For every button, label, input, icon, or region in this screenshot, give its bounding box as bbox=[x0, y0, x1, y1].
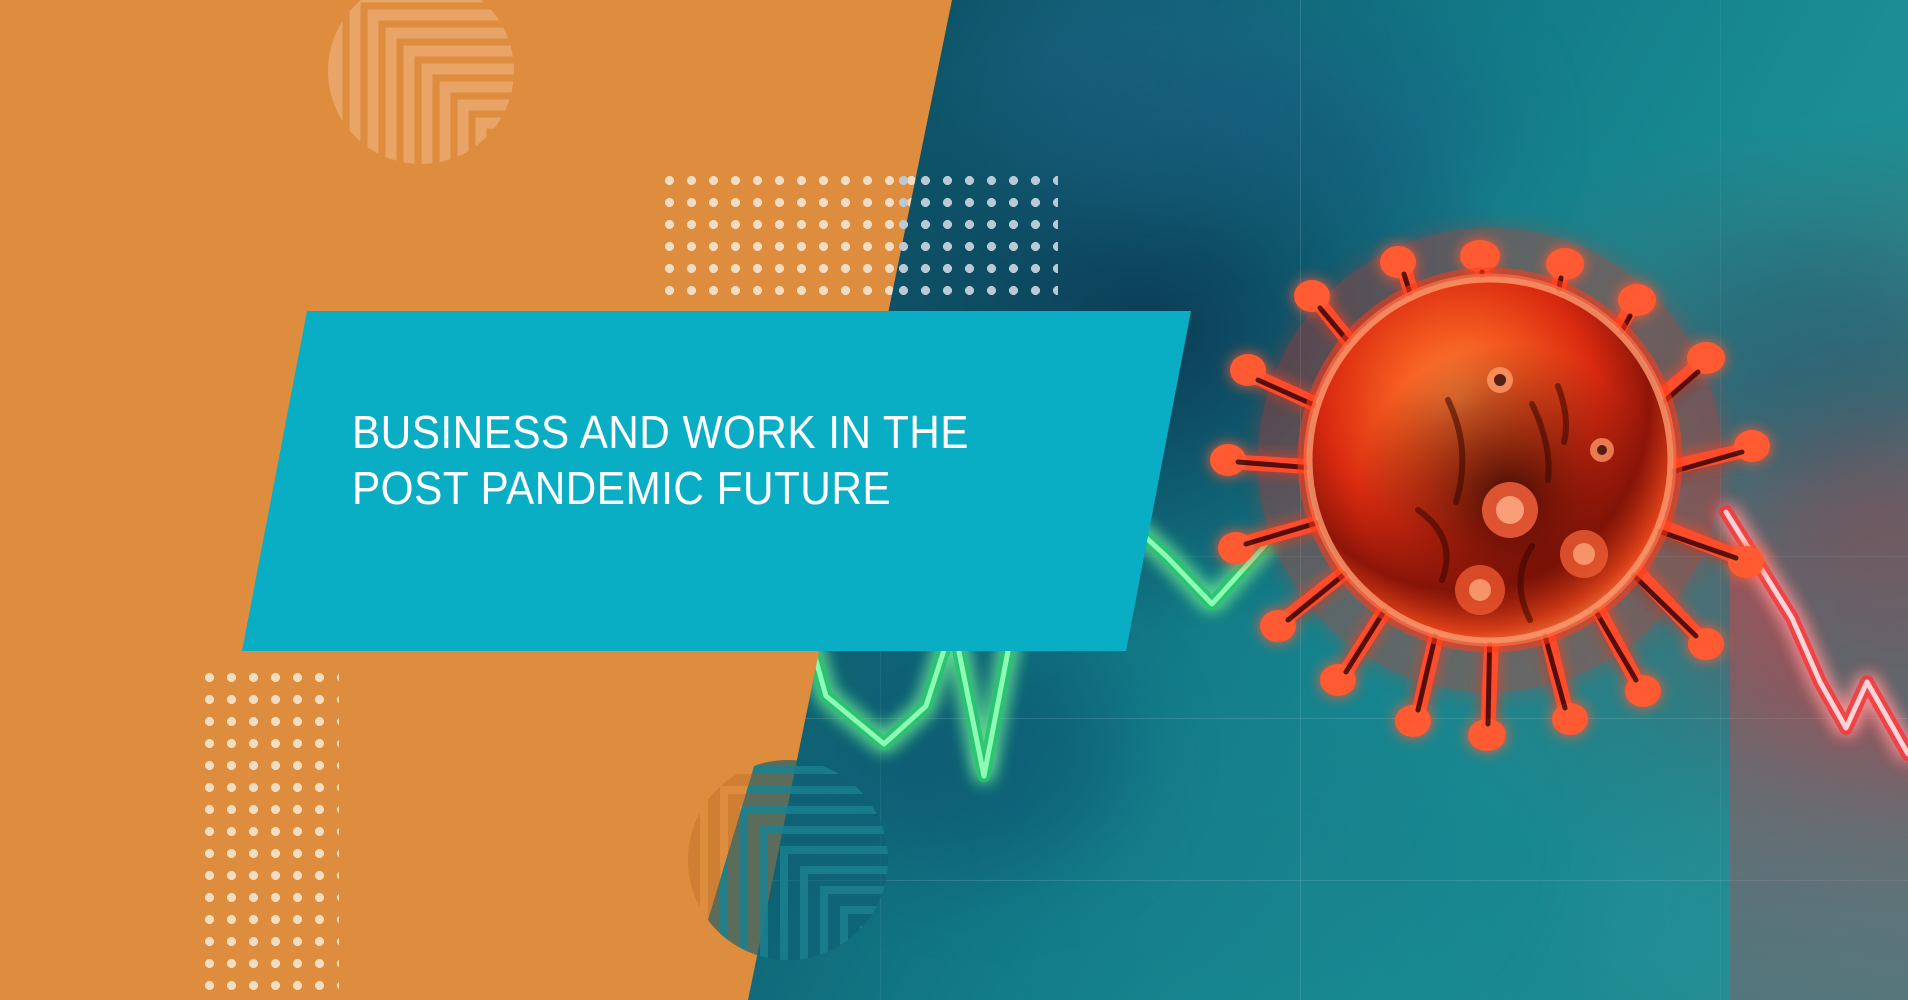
corner-stripe-pattern-light bbox=[328, 0, 514, 164]
pandemic-banner-image: BUSINESS AND WORK IN THE POST PANDEMIC F… bbox=[0, 0, 1908, 1000]
striped-corner-circle-top bbox=[328, 0, 514, 164]
page-title-line-2: POST PANDEMIC FUTURE bbox=[352, 460, 1070, 516]
halftone-dot-grid-bottom bbox=[204, 672, 339, 1000]
halftone-dot-grid-top-dark bbox=[898, 175, 1058, 300]
page-title: BUSINESS AND WORK IN THE POST PANDEMIC F… bbox=[352, 404, 1070, 516]
page-title-line-1: BUSINESS AND WORK IN THE bbox=[352, 404, 1070, 460]
coronavirus-svg bbox=[1180, 150, 1800, 770]
coronavirus-icon bbox=[1180, 150, 1800, 770]
